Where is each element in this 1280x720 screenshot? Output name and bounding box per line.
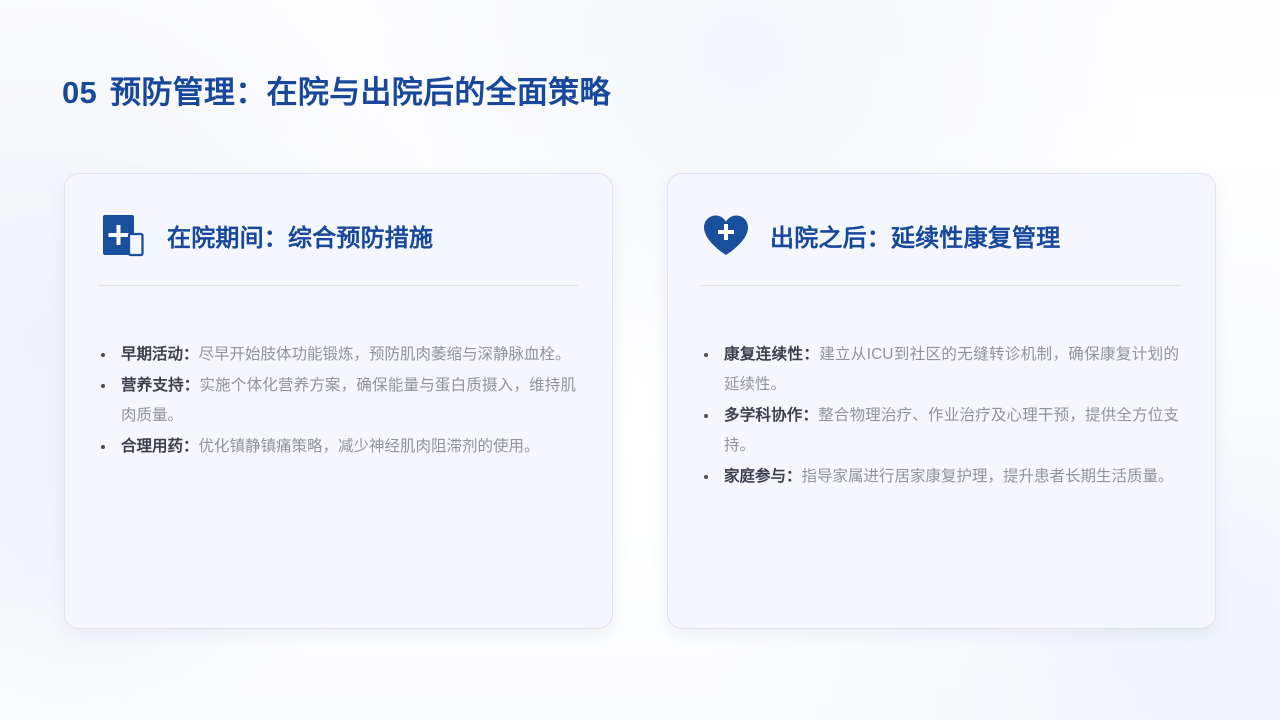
bullet-label: 康复连续性 [724,346,803,363]
bullet-separator: ： [183,438,199,455]
card-body: 早期活动：尽早开始肢体功能锻炼，预防肌肉萎缩与深静脉血栓。 营养支持：实施个体化… [96,340,582,463]
card-title: 出院之后：延续性康复管理 [770,218,1060,253]
list-item: 多学科协作：整合物理治疗、作业治疗及心理干预，提供全方位支持。 [701,401,1179,461]
card-container: 在院期间：综合预防措施 早期活动：尽早开始肢体功能锻炼，预防肌肉萎缩与深静脉血栓… [64,173,1216,629]
bullet-separator: ： [786,468,802,485]
bullet-list: 早期活动：尽早开始肢体功能锻炼，预防肌肉萎缩与深静脉血栓。 营养支持：实施个体化… [98,340,576,462]
list-item: 合理用药：优化镇静镇痛策略，减少神经肌肉阻滞剂的使用。 [98,432,576,462]
hospital-icon [98,210,148,260]
list-item: 康复连续性：建立从ICU到社区的无缝转诊机制，确保康复计划的延续性。 [701,340,1179,400]
card-in-hospital: 在院期间：综合预防措施 早期活动：尽早开始肢体功能锻炼，预防肌肉萎缩与深静脉血栓… [64,173,613,629]
bullet-text: 尽早开始肢体功能锻炼，预防肌肉萎缩与深静脉血栓。 [199,346,571,363]
bullet-separator: ： [183,346,199,363]
card-divider [701,285,1181,286]
bullet-label: 早期活动 [121,346,183,363]
bullet-label: 合理用药 [121,438,183,455]
card-title: 在院期间：综合预防措施 [167,218,433,253]
bullet-label: 家庭参与 [724,468,786,485]
bullet-separator: ： [803,346,819,363]
card-header: 出院之后：延续性康复管理 [699,208,1185,262]
card-body: 康复连续性：建立从ICU到社区的无缝转诊机制，确保康复计划的延续性。 多学科协作… [699,340,1185,493]
page-title: 05 预防管理：在院与出院后的全面策略 [62,74,611,113]
card-after-discharge: 出院之后：延续性康复管理 康复连续性：建立从ICU到社区的无缝转诊机制，确保康复… [667,173,1216,629]
list-item: 营养支持：实施个体化营养方案，确保能量与蛋白质摄入，维持肌肉质量。 [98,371,576,431]
bullet-label: 多学科协作 [724,407,802,424]
heart-plus-icon [701,210,751,260]
slide-number: 05 [62,75,97,110]
bullet-text: 指导家属进行居家康复护理，提升患者长期生活质量。 [802,468,1174,485]
bullet-list: 康复连续性：建立从ICU到社区的无缝转诊机制，确保康复计划的延续性。 多学科协作… [701,340,1179,492]
bullet-text: 优化镇静镇痛策略，减少神经肌肉阻滞剂的使用。 [199,438,540,455]
list-item: 家庭参与：指导家属进行居家康复护理，提升患者长期生活质量。 [701,462,1179,492]
bullet-label: 营养支持 [121,377,184,394]
slide-title-text: 预防管理：在院与出院后的全面策略 [110,75,611,110]
list-item: 早期活动：尽早开始肢体功能锻炼，预防肌肉萎缩与深静脉血栓。 [98,340,576,370]
bullet-separator: ： [802,407,818,424]
bullet-separator: ： [184,377,200,394]
card-header: 在院期间：综合预防措施 [96,208,582,262]
card-divider [98,285,578,286]
